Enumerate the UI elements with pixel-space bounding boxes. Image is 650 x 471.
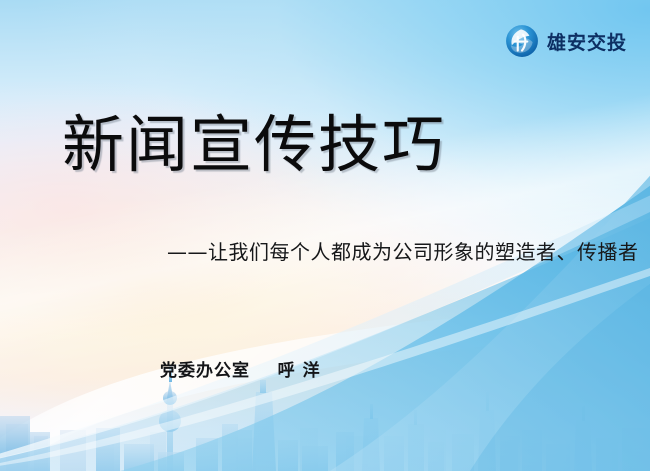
slide-subtitle: ——让我们每个人都成为公司形象的塑造者、传播者 [167, 240, 639, 264]
xiongan-jiaotou-circle-logo-icon [505, 24, 539, 58]
title-slide: 雄安交投 新闻宣传技巧 ——让我们每个人都成为公司形象的塑造者、传播者 党委办公… [0, 0, 650, 471]
pearl-tower-shaft [167, 404, 173, 471]
ribbon-thin-streak [0, 268, 650, 471]
background-artwork [0, 0, 650, 471]
shanghai-tower [252, 392, 276, 471]
white-arc-sweep [0, 300, 650, 471]
background-sky-gradient [0, 0, 650, 471]
background-pink-wash [0, 0, 650, 471]
ribbon-highlight [0, 172, 650, 471]
presenter-line: 党委办公室 呼 洋 [160, 356, 321, 381]
brand-logo: 雄安交投 [505, 24, 627, 58]
ribbon-lower [0, 196, 650, 471]
ribbon-mid [120, 150, 650, 471]
ribbon-corner-accent [470, 250, 650, 471]
brand-logo-text: 雄安交投 [547, 28, 627, 55]
background-white-haze [0, 0, 650, 471]
skyline-main [0, 366, 650, 471]
skyline-far [6, 424, 632, 471]
background-warm-glow [0, 0, 650, 471]
background-blue-glow [0, 0, 650, 471]
slide-title: 新闻宣传技巧 [62, 112, 446, 177]
